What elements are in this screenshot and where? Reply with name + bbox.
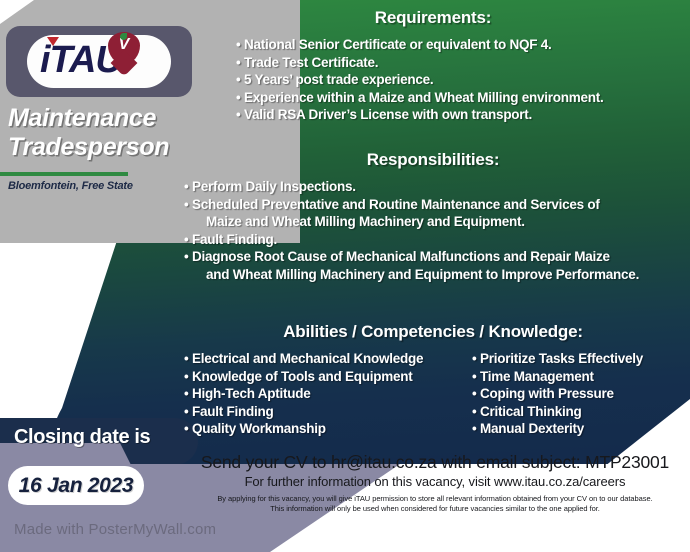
job-poster: iTAU V Maintenance Tradesperson Bloemfon… [0,0,690,552]
list-item: Quality Workmanship [184,420,472,438]
job-title-line-2: Tradesperson [8,133,169,161]
list-item: 5 Years’ post trade experience. [236,71,690,89]
requirements-list: National Senior Certificate or equivalen… [236,36,690,124]
list-item: High-Tech Aptitude [184,385,472,403]
list-item: Experience within a Maize and Wheat Mill… [236,89,690,107]
list-item: Scheduled Preventative and Routine Maint… [184,196,684,231]
closing-date-badge: 16 Jan 2023 [8,466,144,505]
list-item: Knowledge of Tools and Equipment [184,368,472,386]
abilities-heading: Abilities / Competencies / Knowledge: [176,322,690,342]
list-item: Trade Test Certificate. [236,54,690,72]
list-item-text: Fault Finding. [192,232,277,247]
list-item: Coping with Pressure [472,385,690,403]
title-divider [0,172,128,176]
content-area: Requirements: National Senior Certificat… [176,0,690,464]
disclaimer-line-1: By applying for this vacancy, you will g… [180,494,690,504]
list-item: Perform Daily Inspections. [184,178,684,196]
logo-dot-icon [47,37,59,46]
contact-block: Send your CV to hr@itau.co.za with email… [180,452,690,514]
more-info-text: For further information on this vacancy,… [180,474,690,489]
list-item-text: Scheduled Preventative and Routine Maint… [192,197,600,212]
postermywall-watermark: Made with PosterMyWall.com [14,521,216,538]
list-item: National Senior Certificate or equivalen… [236,36,690,54]
list-item: Time Management [472,368,690,386]
disclaimer-line-2: This information will only be used when … [180,504,690,514]
list-item: Diagnose Root Cause of Mechanical Malfun… [184,248,684,283]
job-title-line-1: Maintenance [8,104,156,132]
abilities-right-column: Prioritize Tasks Effectively Time Manage… [472,350,690,438]
requirements-heading: Requirements: [176,8,690,28]
job-location: Bloemfontein, Free State [8,180,188,192]
list-item: Critical Thinking [472,403,690,421]
list-item-cont: Maize and Wheat Milling Machinery and Eq… [195,213,684,231]
closing-date-label: Closing date is [14,426,150,449]
list-item: Fault Finding. [184,231,684,249]
list-item: Valid RSA Driver’s License with own tran… [236,106,690,124]
send-cv-text: Send your CV to hr@itau.co.za with email… [180,452,690,473]
page-title: Maintenance Tradesperson [8,104,188,162]
responsibilities-heading: Responsibilities: [176,150,690,170]
leaf-icon [120,33,127,40]
list-item: Electrical and Mechanical Knowledge [184,350,472,368]
abilities-left-column: Electrical and Mechanical Knowledge Know… [184,350,472,438]
list-item: Fault Finding [184,403,472,421]
list-item: Prioritize Tasks Effectively [472,350,690,368]
list-item-text: Diagnose Root Cause of Mechanical Malfun… [192,249,610,264]
closing-date-value: 16 Jan 2023 [19,474,134,498]
list-item: Manual Dexterity [472,420,690,438]
list-item-cont: and Wheat Milling Machinery and Equipmen… [195,266,684,284]
list-item-text: Perform Daily Inspections. [192,179,356,194]
responsibilities-list: Perform Daily Inspections. Scheduled Pre… [184,178,684,284]
abilities-columns: Electrical and Mechanical Knowledge Know… [184,350,690,438]
